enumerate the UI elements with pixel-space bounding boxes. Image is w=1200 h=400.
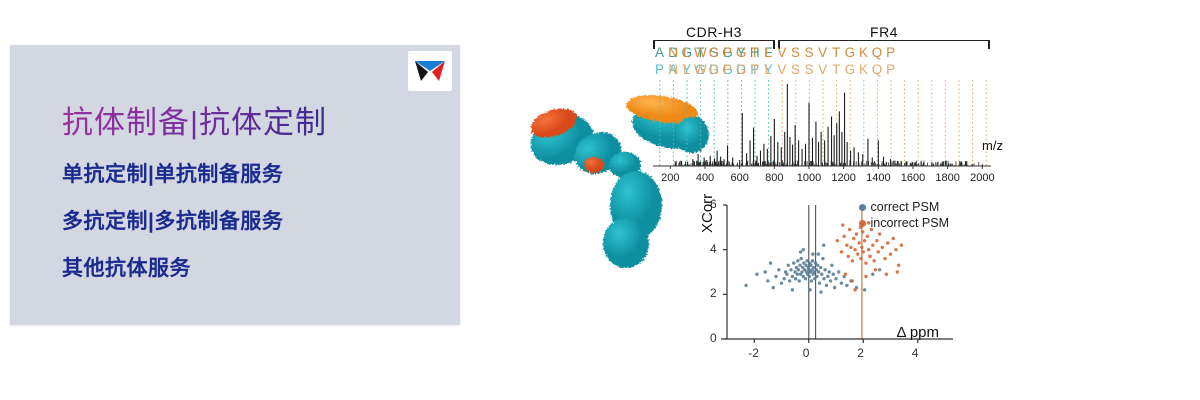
- spectrum-tick-800: 800: [765, 172, 783, 184]
- region-label-fr4: FR4: [778, 24, 990, 40]
- scatter-xaxis-label: Δ ppm: [896, 324, 939, 341]
- scatter-ytick-6: 6: [710, 197, 717, 211]
- spectrum-xaxis-ticks: 200400600800100012001400160018002000: [653, 172, 991, 188]
- sequence-row-top: ADGTSGYHFNLWGPGTLVSSVTGKQP: [653, 45, 680, 60]
- scatter-xtick-0: 0: [803, 346, 810, 360]
- legend-item-0: correct PSM: [859, 199, 950, 215]
- spectrum-xaxis-label: m/z: [982, 138, 1003, 153]
- menu-item-other-services[interactable]: 其他抗体服务: [62, 252, 191, 282]
- scatter-xtick--2: -2: [748, 346, 759, 360]
- legend-item-1: incorrect PSM: [859, 215, 950, 231]
- scatter-legend: correct PSMincorrect PSM: [859, 199, 950, 231]
- spectrum-tick-600: 600: [730, 172, 748, 184]
- mass-spectrum-plot: [653, 80, 991, 172]
- xcorr-scatter-plot: XCorr Δ ppm correct PSMincorrect PSM 024…: [685, 195, 955, 375]
- menu-item-polyclonal[interactable]: 多抗定制|多抗制备服务: [62, 205, 283, 235]
- scatter-xtick-4: 4: [912, 346, 919, 360]
- spectrum-tick-1000: 1000: [797, 172, 821, 184]
- legend-label: incorrect PSM: [871, 215, 950, 231]
- seq-fr4-top: NLWGPGTLVSSVTGKQP: [667, 45, 681, 60]
- spectrum-tick-1400: 1400: [866, 172, 890, 184]
- seq-fr4-bottom: NLWGPGTLVSSVTGKQP: [667, 62, 681, 77]
- legend-label: correct PSM: [871, 199, 940, 215]
- service-panel: 抗体制备|抗体定制 单抗定制|单抗制备服务 多抗定制|多抗制备服务 其他抗体服务: [10, 45, 460, 325]
- seq-cdr-bottom: PAYGDGDPY: [653, 62, 667, 77]
- legend-dot-icon: [859, 204, 866, 211]
- company-logo: [408, 51, 452, 91]
- spectrum-tick-200: 200: [661, 172, 679, 184]
- spectrum-tick-2000: 2000: [970, 172, 994, 184]
- scatter-ytick-4: 4: [710, 242, 717, 256]
- spectrum-tick-1800: 1800: [935, 172, 959, 184]
- legend-dot-icon: [859, 220, 866, 227]
- sequence-row-bottom: PAYGDGDPYNLWGPGTLVSSVTGKQP: [653, 62, 680, 77]
- scatter-xtick-2: 2: [857, 346, 864, 360]
- seq-cdr-top: ADGTSGYHF: [653, 45, 667, 60]
- spectrum-tick-1600: 1600: [901, 172, 925, 184]
- antibody-sequencing-figure: CDR-H3 FR4 ADGTSGYHFNLWGPGTLVSSVTGKQP PA…: [500, 0, 1200, 400]
- menu-item-monoclonal[interactable]: 单抗定制|单抗制备服务: [62, 158, 283, 188]
- region-label-cdrh3: CDR-H3: [653, 24, 775, 40]
- sequence-spectrum-block: CDR-H3 FR4 ADGTSGYHFNLWGPGTLVSSVTGKQP PA…: [645, 20, 1005, 195]
- scatter-ytick-0: 0: [710, 331, 717, 345]
- page-title: 抗体制备|抗体定制: [62, 97, 327, 142]
- spectrum-tick-1200: 1200: [831, 172, 855, 184]
- scatter-ytick-2: 2: [710, 286, 717, 300]
- spectrum-tick-400: 400: [696, 172, 714, 184]
